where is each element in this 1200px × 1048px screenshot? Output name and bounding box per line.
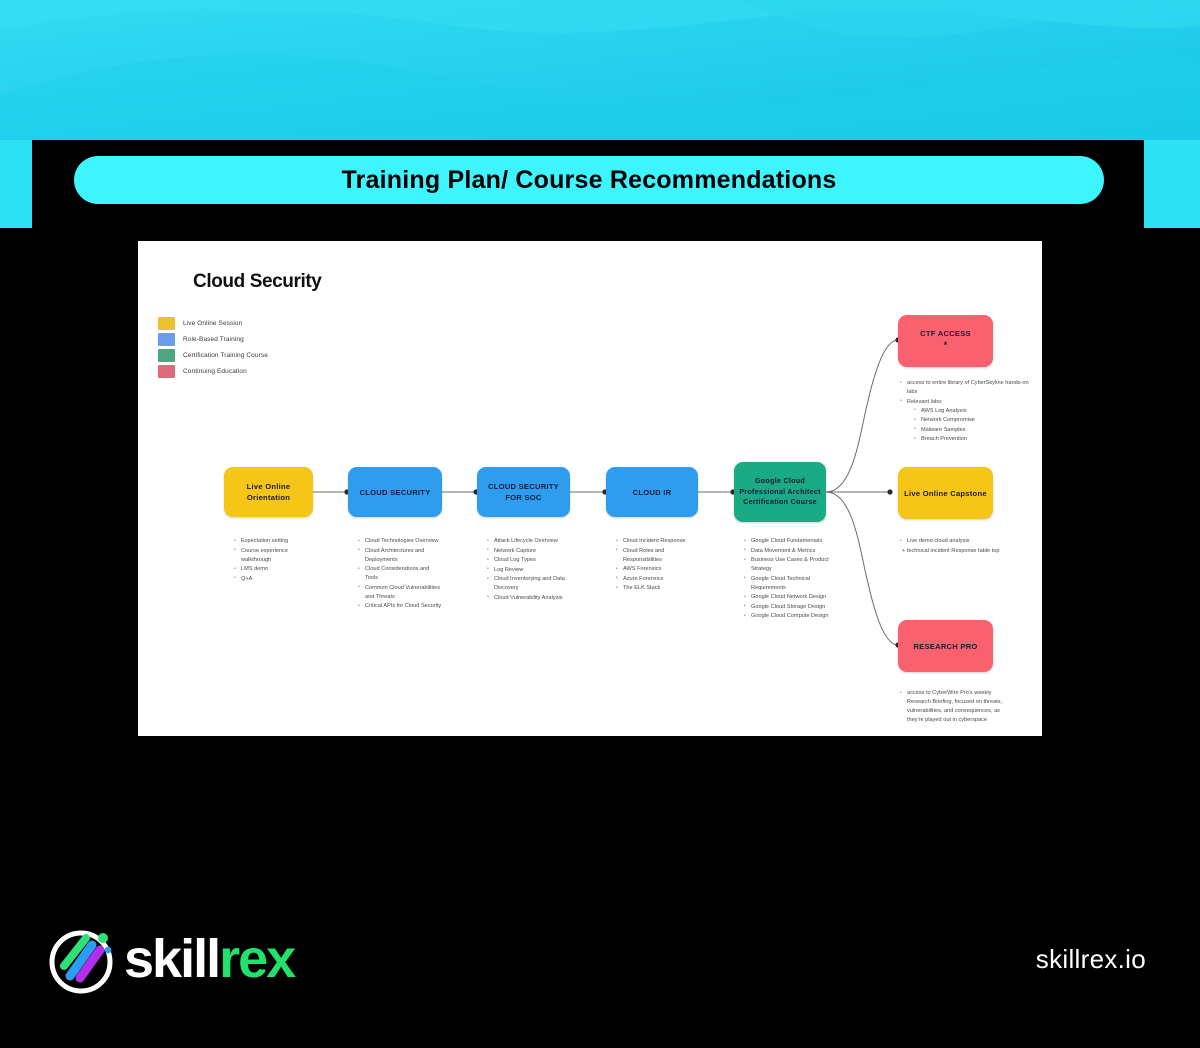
bullet-item: Log Review — [489, 566, 573, 575]
node-label: Live Online Orientation — [224, 481, 313, 503]
bullet-subitem: Network Compromise — [916, 416, 1034, 425]
brand-name-second: rex — [219, 929, 294, 989]
node-live-online-capstone[interactable]: Live Online Capstone — [898, 467, 993, 519]
slide-body: Cloud Security Live Online Session Role-… — [0, 228, 1200, 888]
bullet-item: The ELK Stack — [618, 584, 698, 593]
bullet-item: access to CyberWire Pro's weekly Researc… — [902, 689, 1010, 725]
brand-logo: skillrex — [42, 920, 294, 998]
bullet-subitem: AWS Log Analysis — [916, 407, 1034, 416]
bullet-item: Cloud Considerations and Tools — [360, 565, 442, 583]
bullet-item: Cloud Inventorying and Data Discovery — [489, 575, 573, 593]
bullets-ctf-access: access to entire library of CyberSkyline… — [894, 379, 1034, 445]
bullets-cloud-ir: Cloud Incident Response Cloud Roles and … — [610, 537, 698, 594]
bullets-live-capstone: Live demo cloud analysis + technical inc… — [894, 537, 1016, 556]
bullet-item: Live demo cloud analysis — [902, 537, 1016, 546]
node-label: CLOUD SECURITY FOR SOC — [477, 481, 570, 503]
bullet-item: Relevant labs: AWS Log Analysis Network … — [902, 398, 1034, 445]
bullets-orientation: Expectation setting Course experience wa… — [228, 537, 314, 584]
bullet-subitem: Malware Samples — [916, 426, 1034, 435]
bullets-research-pro: access to CyberWire Pro's weekly Researc… — [894, 689, 1010, 726]
node-live-online-orientation[interactable]: Live Online Orientation — [224, 467, 313, 517]
node-gcp-professional-architect[interactable]: Google Cloud Professional Architect Cert… — [734, 462, 826, 522]
bullet-item: Cloud Vulnerability Analysis — [489, 594, 573, 603]
bullet-item: Q+A — [236, 575, 314, 584]
bullet-item: Cloud Log Types — [489, 556, 573, 565]
live-capstone-extra-note: + technical incident Response table top — [894, 547, 1016, 556]
ctf-asterisk: * — [944, 340, 948, 350]
bullet-item: Google Cloud Storage Design — [746, 603, 838, 612]
bullet-item: Cloud Architectures and Deployments — [360, 547, 442, 565]
bullet-item: Google Cloud Network Design — [746, 593, 838, 602]
bullet-item: Data Movement & Metrics — [746, 547, 838, 556]
bullet-item: AWS Forensics — [618, 565, 698, 574]
bullet-item: LMS demo — [236, 565, 314, 574]
node-label: CLOUD IR — [629, 487, 676, 498]
bullet-item: Cloud Roles and Responsibilities — [618, 547, 698, 565]
bullet-item: Critical APIs for Cloud Security — [360, 602, 442, 611]
title-bar-left-accent — [0, 140, 32, 228]
brand-wordmark: skillrex — [124, 928, 294, 990]
bullet-item: Business Use Cases & Product Strategy — [746, 556, 838, 574]
bullet-item: Expectation setting — [236, 537, 314, 546]
bullet-item: Google Cloud Compute Design — [746, 612, 838, 621]
node-label: Google Cloud Professional Architect Cert… — [734, 476, 826, 507]
node-cloud-security[interactable]: CLOUD SECURITY — [348, 467, 442, 517]
node-cloud-ir[interactable]: CLOUD IR — [606, 467, 698, 517]
node-cloud-security-for-soc[interactable]: CLOUD SECURITY FOR SOC — [477, 467, 570, 517]
bullets-cloud-security-for-soc: Attack Lifecycle Overview Network Captur… — [481, 537, 573, 603]
website-url: skillrex.io — [1036, 944, 1146, 975]
bullet-item: Google Cloud Technical Requirements — [746, 575, 838, 593]
brand-name-first: skill — [124, 929, 219, 989]
bullet-item: access to entire library of CyberSkyline… — [902, 379, 1034, 397]
node-label-text: CTF ACCESS — [916, 328, 975, 339]
footer: skillrex skillrex.io — [0, 888, 1200, 1048]
bullets-cloud-security: Cloud Technologies Overview Cloud Archit… — [352, 537, 442, 612]
node-research-pro[interactable]: RESEARCH PRO — [898, 620, 993, 672]
node-label: RESEARCH PRO — [909, 641, 981, 652]
bullet-item: Cloud Technologies Overview — [360, 537, 442, 546]
node-label: CTF ACCESS* — [912, 328, 979, 355]
header-wave-decoration — [0, 0, 1200, 140]
bullet-item: Attack Lifecycle Overview — [489, 537, 573, 546]
node-label: Live Online Capstone — [900, 488, 991, 499]
diagram-board: Cloud Security Live Online Session Role-… — [138, 241, 1042, 736]
bullet-subitem: Breach Prevention — [916, 435, 1034, 444]
bullet-item-text: Relevant labs: — [907, 399, 942, 405]
skillrex-mark-icon — [42, 920, 120, 998]
header-banner — [0, 0, 1200, 140]
bullet-item: Course experience walkthrough — [236, 547, 314, 565]
bullet-item: Azure Forensics — [618, 575, 698, 584]
bullet-item: Network Capture — [489, 547, 573, 556]
bullet-item: Cloud Incident Response — [618, 537, 698, 546]
page-title: Training Plan/ Course Recommendations — [342, 166, 837, 195]
node-label: CLOUD SECURITY — [355, 487, 434, 498]
title-bar-right-accent — [1144, 140, 1200, 228]
bullet-item: Common Cloud Vulnerabilities and Threats — [360, 584, 442, 602]
bullet-item: Google Cloud Fundamentals — [746, 537, 838, 546]
node-ctf-access[interactable]: CTF ACCESS* — [898, 315, 993, 367]
bullets-gcp-architect: Google Cloud Fundamentals Data Movement … — [738, 537, 838, 622]
page-title-pill: Training Plan/ Course Recommendations — [74, 156, 1104, 204]
